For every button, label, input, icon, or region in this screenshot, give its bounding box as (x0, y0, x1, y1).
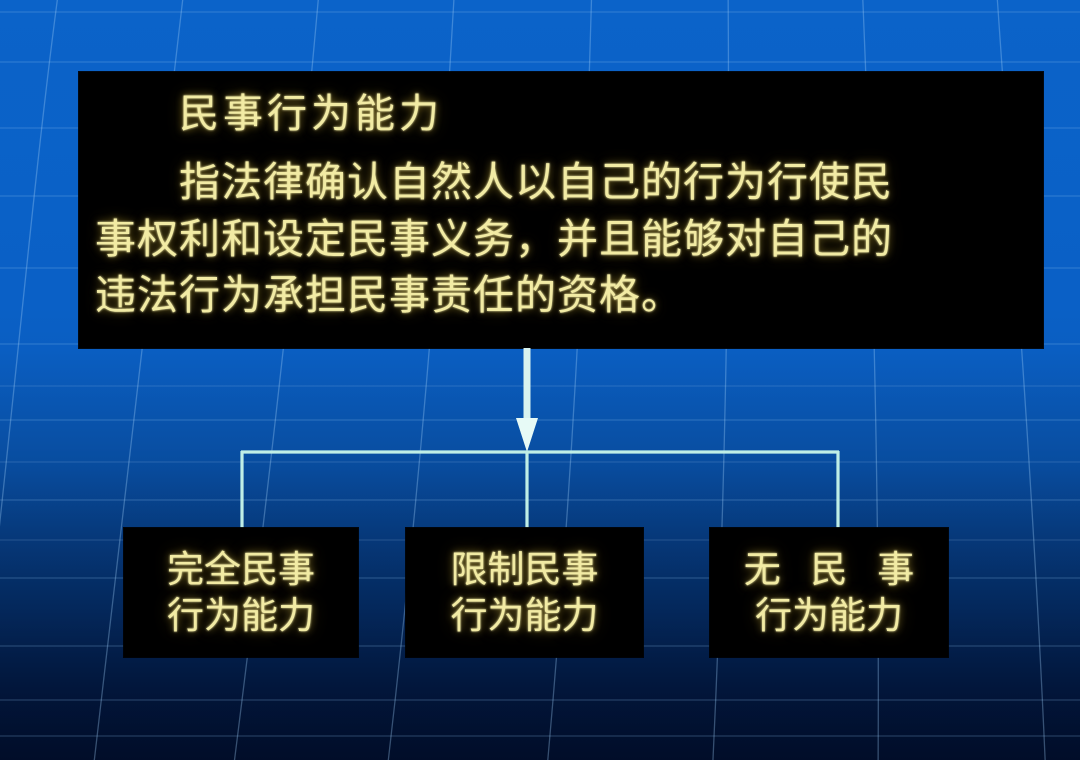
panel-body: 指法律确认自然人以自己的行为行使民 事权利和设定民事义务，并且能够对自己的 违法… (79, 134, 1043, 324)
category-line-2: 行为能力 (167, 593, 315, 638)
down-arrow-icon (516, 418, 538, 452)
category-panel-no-capacity: 无 民 事 行为能力 (710, 528, 948, 657)
body-line-1: 指法律确认自然人以自己的行为行使民 (95, 154, 1025, 211)
slide-canvas: 民事行为能力 指法律确认自然人以自己的行为行使民 事权利和设定民事义务，并且能够… (0, 0, 1080, 760)
body-line-2: 事权利和设定民事义务，并且能够对自己的 (95, 211, 1025, 268)
category-panel-full-capacity: 完全民事 行为能力 (124, 528, 358, 657)
definition-panel: 民事行为能力 指法律确认自然人以自己的行为行使民 事权利和设定民事义务，并且能够… (79, 72, 1043, 348)
category-panel-limited-capacity: 限制民事 行为能力 (406, 528, 643, 657)
category-line-1: 限制民事 (451, 547, 599, 592)
category-line-1: 完全民事 (167, 547, 315, 592)
panel-title: 民事行为能力 (79, 72, 1043, 134)
category-line-2: 行为能力 (755, 593, 903, 638)
category-line-2: 行为能力 (451, 593, 599, 638)
category-line-1: 无 民 事 (735, 547, 924, 592)
body-line-3: 违法行为承担民事责任的资格。 (95, 267, 1025, 324)
